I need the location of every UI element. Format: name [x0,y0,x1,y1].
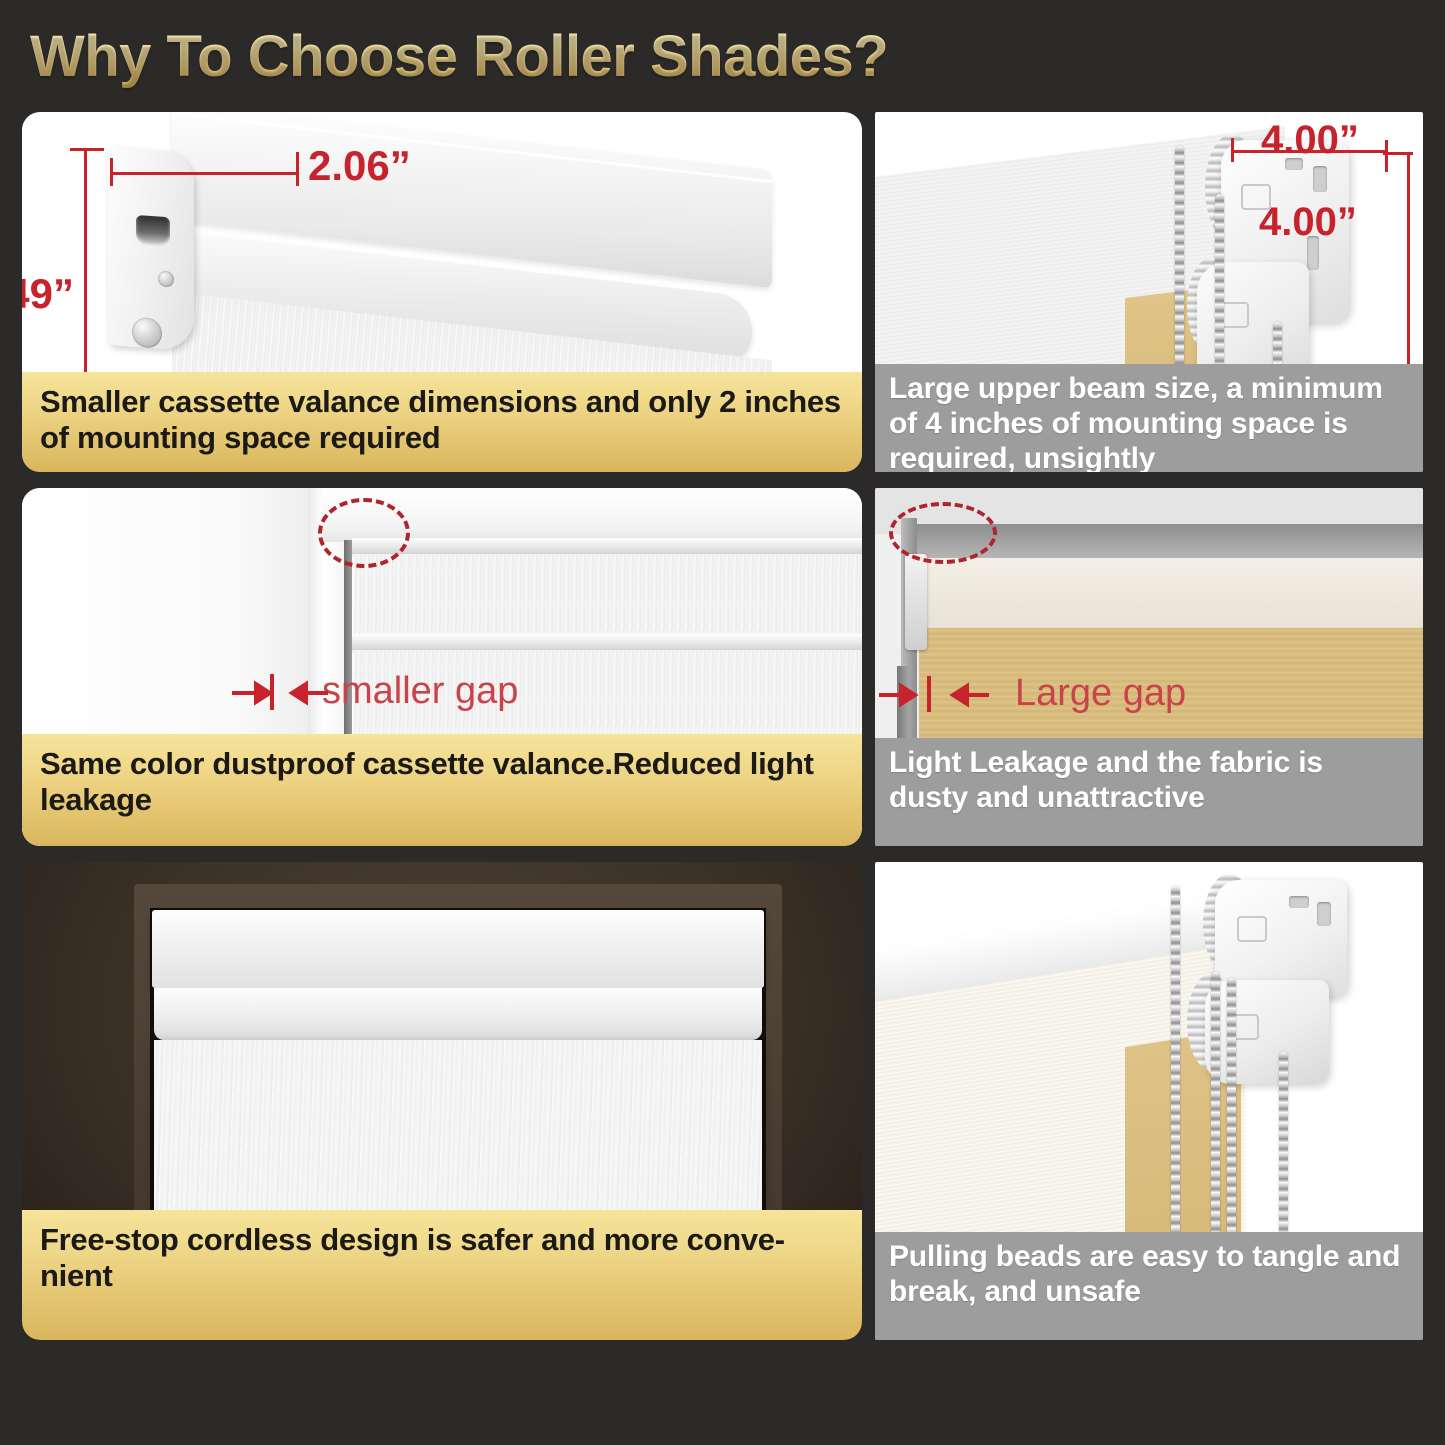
cassette-valance-lower [154,988,762,1040]
page-title: Why To Choose Roller Shades? [30,22,1030,92]
dim-tick-right-2 [1385,140,1388,172]
panel-large-beam: 4.00” 4.00” Large upper beam size, a min… [875,112,1423,472]
bracket-slot-b [1313,166,1327,192]
panel-smaller-cassette: 2.06” 5.49” Smaller cassette valance dim… [22,112,862,472]
panel-3-caption: Same color dustproof cassette valance.Re… [22,734,862,846]
panel-4-caption: Light Leakage and the fabric is dusty an… [875,738,1423,846]
bracket6-slot-a [1289,896,1309,908]
valance-end-cap [108,147,194,351]
infographic-root: Why To Choose Roller Shades? 2.06” 5.49”… [0,0,1445,1445]
dim-tick-left-2 [1231,138,1234,162]
large-gap-label: Large gap [1015,672,1186,715]
panel-pulling-beads: Pulling beads are easy to tangle and bre… [875,862,1423,1340]
gap-marker-bar [270,674,274,710]
panel-5-caption: Free-stop cordless design is safer and m… [22,1210,862,1340]
dim-line-width [112,172,298,175]
shade-side-clip [905,554,927,650]
dim-tick-left [110,158,113,186]
panel-cordless-design: Free-stop cordless design is safer and m… [22,862,862,1340]
beam-height-label: 4.00” [1259,200,1357,245]
panel-dustproof-valance: smaller gap Same color dustproof cassett… [22,488,862,846]
large-gap-marker-bar [927,676,931,712]
width-dimension-label: 2.06” [308,142,411,190]
valance-face [354,554,862,634]
cassette-valance-head [152,910,764,988]
dim-tick-right [296,152,299,186]
panel-6-caption: Pulling beads are easy to tangle and bre… [875,1232,1423,1340]
dim-tick-top-2 [1383,152,1413,155]
dim-tick-top [70,148,104,151]
end-cap-screw-upper [158,270,174,287]
light-gap-edge [344,540,352,746]
large-gap-arrow-right-icon [939,678,1019,712]
panel-1-caption: Smaller cassette valance dimensions and … [22,372,862,472]
end-cap-screw-lower [132,317,162,349]
dim-line-height-2 [1407,154,1410,370]
large-gap-arrow-left-icon [875,678,945,712]
end-cap-slot [136,215,170,247]
valance-top-rail [352,538,862,554]
valance-mid-rail [352,634,862,650]
beam-width-label: 4.00” [1261,118,1359,163]
highlight-circle-gap [318,498,410,568]
panel-2-caption: Large upper beam size, a minimum of 4 in… [875,364,1423,472]
bead-bracket-lower [1205,980,1329,1084]
gap-arrow-right-icon [280,676,360,710]
cream-fabric-band [911,558,1423,628]
height-dimension-label: 5.49” [22,270,74,318]
panel-light-leakage: Large gap Light Leakage and the fabric i… [875,488,1423,846]
highlight-circle-large-gap [889,502,997,564]
bracket6-emblem-icon [1237,916,1267,942]
bracket6-slot-b [1317,902,1331,926]
